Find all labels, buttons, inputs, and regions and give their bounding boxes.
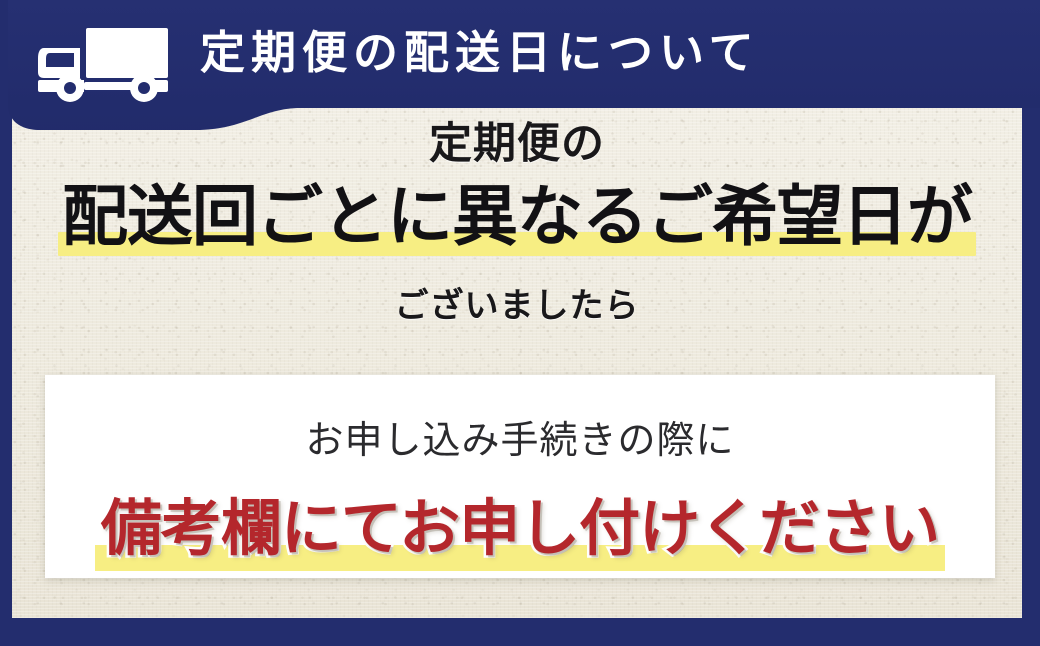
delivery-truck-icon xyxy=(32,26,172,104)
callout-line-1: お申し込み手続きの際に xyxy=(45,409,995,464)
banner-header: 定期便の配送日について xyxy=(0,0,1040,108)
page-title: 定期便の配送日について xyxy=(200,18,1000,88)
lead-line-3: ございましたら xyxy=(12,278,1022,327)
instruction-callout-card: お申し込み手続きの際に 備考欄にてお申し付けください xyxy=(45,375,995,578)
delivery-date-notice-banner: 定期便の配送日について 定期便の 配送回ごとに異なるご希望日が ございましたら … xyxy=(0,0,1040,646)
callout-headline-highlighted: 備考欄にてお申し付けください xyxy=(95,478,945,573)
lead-headline-highlighted: 配送回ごとに異なるご希望日が xyxy=(58,180,976,260)
